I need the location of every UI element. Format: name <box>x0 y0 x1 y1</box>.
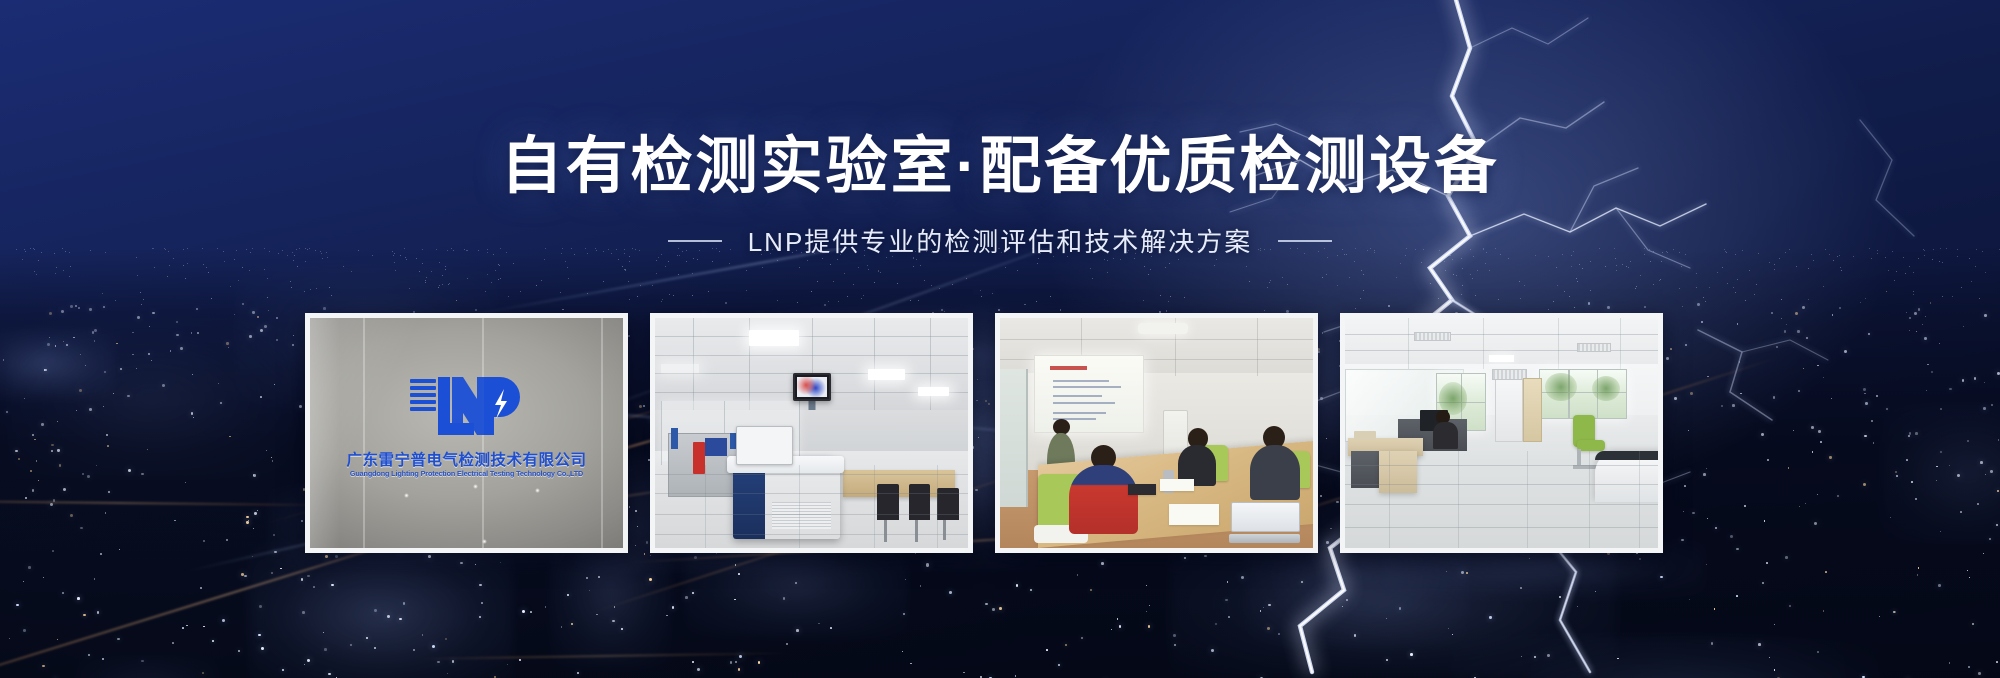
photo-card-meeting-room[interactable] <box>995 313 1318 553</box>
hero-banner: 自有检测实验室·配备优质检测设备 LNP提供专业的检测评估和技术解决方案 <box>0 0 2000 678</box>
rig-red-cylinder <box>693 442 706 474</box>
rule-right <box>1278 240 1332 242</box>
testing-laboratory-image <box>655 318 968 548</box>
photo-card-testing-laboratory[interactable] <box>650 313 973 553</box>
page-subtitle: LNP提供专业的检测评估和技术解决方案 <box>748 222 1253 259</box>
laptop <box>1229 502 1301 543</box>
desk-side-panel <box>1379 451 1417 492</box>
lnp-logo-icon <box>408 373 526 441</box>
control-console <box>733 456 839 539</box>
notebook <box>1128 484 1156 496</box>
office-chair <box>909 484 931 521</box>
company-name-en: Guangdong Lighting Protection Electrical… <box>310 469 623 478</box>
ceiling-vent <box>1414 332 1452 341</box>
company-logo-sign-image: 广东雷宁普电气检测技术有限公司 Guangdong Lighting Prote… <box>310 318 623 548</box>
subtitle-row: LNP提供专业的检测评估和技术解决方案 <box>0 222 2000 259</box>
worker-body <box>1433 422 1458 450</box>
paper-document <box>1169 504 1219 525</box>
photo-gallery: 广东雷宁普电气检测技术有限公司 Guangdong Lighting Prote… <box>305 313 1697 553</box>
ceiling-light <box>868 369 906 381</box>
office-chair <box>877 484 899 521</box>
wooden-shelf <box>1523 378 1542 442</box>
ceiling-vent <box>1577 343 1611 352</box>
photo-card-office-area[interactable] <box>1340 313 1663 553</box>
ceiling-light <box>1138 323 1188 335</box>
rig-blue-module <box>705 438 727 456</box>
photo-card-company-logo-sign[interactable]: 广东雷宁普电气检测技术有限公司 Guangdong Lighting Prote… <box>305 313 628 553</box>
tall-cabinet <box>1495 378 1523 442</box>
console-monitor <box>736 426 792 465</box>
attendee-body <box>1250 445 1300 500</box>
company-name-cn: 广东雷宁普电气检测技术有限公司 <box>310 448 623 470</box>
office-area-image <box>1345 318 1658 548</box>
paper-document <box>1160 479 1194 491</box>
rule-left <box>668 240 722 242</box>
ceiling-light <box>661 364 699 373</box>
projection-screen <box>1034 355 1144 433</box>
ceiling-light <box>918 387 949 396</box>
wall-monitor <box>793 373 831 401</box>
meeting-room-image <box>1000 318 1313 548</box>
attendee-body-red <box>1069 465 1138 534</box>
desk-equipment <box>1354 431 1376 440</box>
wall-ac-unit <box>1492 369 1526 381</box>
ceiling-light <box>749 330 799 346</box>
ceiling-light <box>1489 355 1514 362</box>
page-title: 自有检测实验室·配备优质检测设备 <box>0 132 2000 201</box>
glass-door <box>1000 369 1028 507</box>
reception-counter <box>1595 451 1658 502</box>
